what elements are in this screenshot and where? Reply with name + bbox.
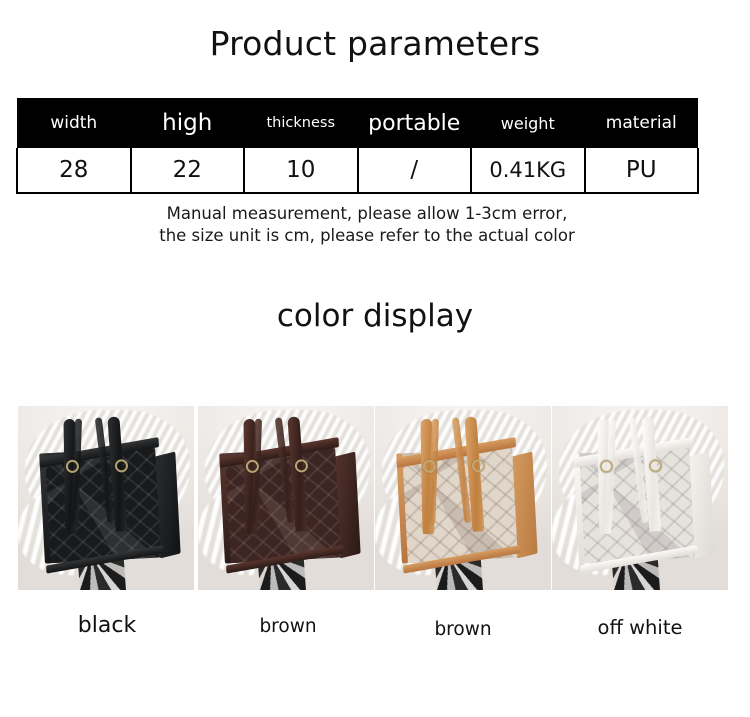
product-photo-scene [375,406,551,590]
spec-value-material: PU [585,148,699,193]
spec-header-thickness: thickness [244,98,358,148]
tote-bag [574,447,713,564]
color-label-off-white: off white [552,616,728,639]
spec-value-high: 22 [131,148,245,193]
product-photo-scene [552,406,728,590]
tote-bag [40,447,179,564]
color-swatch-gallery [18,406,750,590]
spec-value-thickness: 10 [244,148,358,193]
color-display-title: color display [0,296,750,336]
product-photo-scene [18,406,194,590]
spec-value-weight: 0.41KG [471,148,585,193]
spec-header-portable: portable [358,98,472,148]
spec-value-portable: / [358,148,472,193]
color-label-black: black [22,613,192,638]
page-title: Product parameters [0,24,750,64]
color-label-brown-tan: brown [375,619,551,640]
spec-header-weight: weight [471,98,585,148]
product-image-brown-dark[interactable] [198,406,374,590]
spec-header-material: material [585,98,699,148]
product-image-brown-tan[interactable] [375,406,551,590]
tote-bag [220,447,359,564]
spec-table-value-row: 28 22 10 / 0.41KG PU [17,148,698,193]
product-image-off-white[interactable] [552,406,728,590]
spec-value-width: 28 [17,148,131,193]
product-image-black[interactable] [18,406,194,590]
spec-header-high: high [131,98,245,148]
spec-header-width: width [17,98,131,148]
spec-table: width high thickness portable weight mat… [16,98,699,194]
product-photo-scene [198,406,374,590]
color-label-brown-dark: brown [200,616,376,637]
spec-table-header-row: width high thickness portable weight mat… [17,98,698,148]
tote-bag [397,447,536,564]
measurement-note: Manual measurement, please allow 1-3cm e… [0,203,750,247]
